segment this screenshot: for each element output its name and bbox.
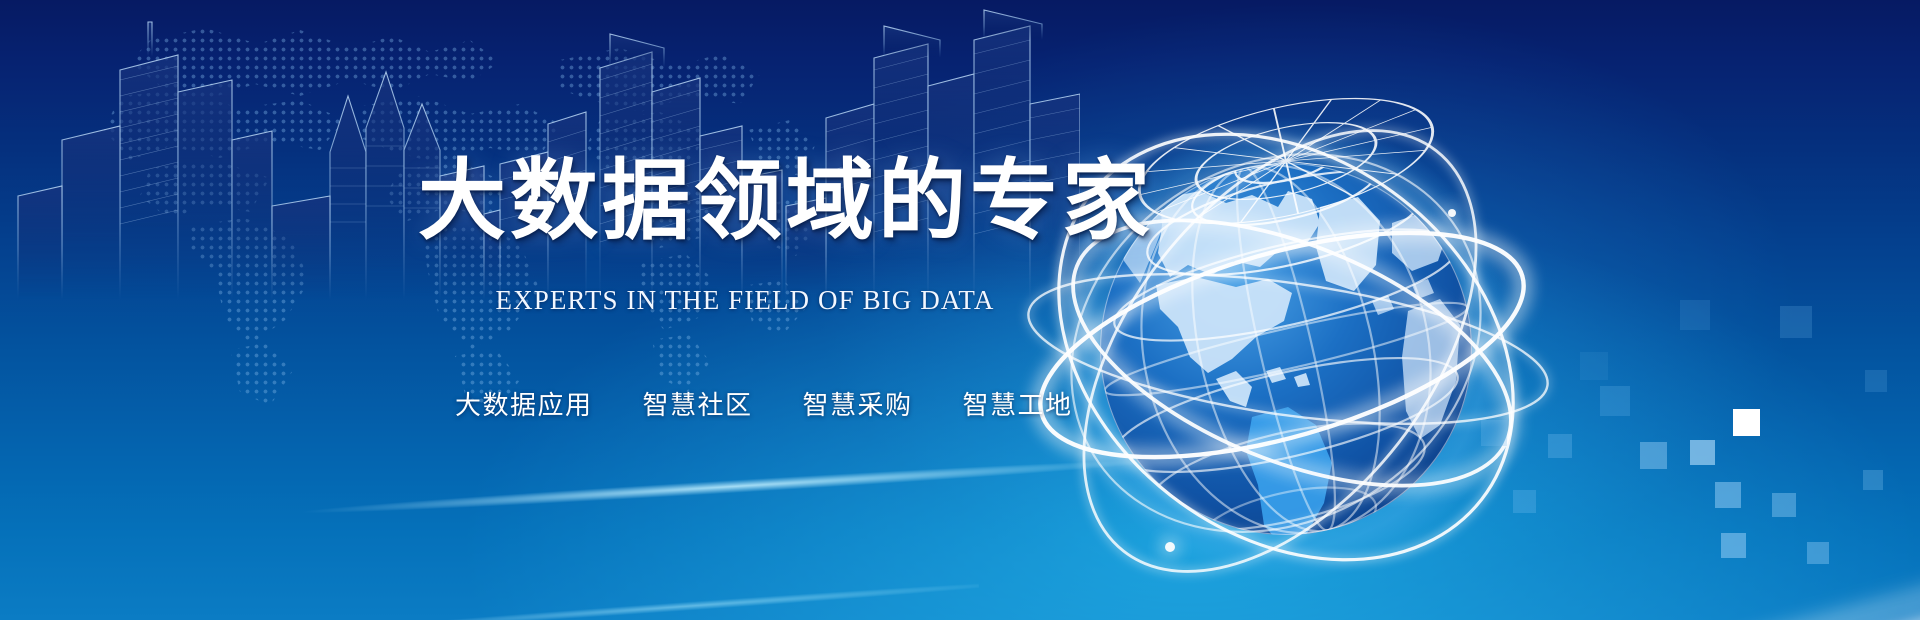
keyword-item-3[interactable]: 智慧工地: [963, 385, 1073, 422]
keyword-list: 大数据应用 智慧社区 智慧采购 智慧工地: [455, 385, 1073, 422]
keyword-item-2[interactable]: 智慧采购: [803, 385, 913, 422]
keyword-item-0[interactable]: 大数据应用: [455, 385, 593, 422]
keyword-item-1[interactable]: 智慧社区: [643, 385, 753, 422]
page-title: 大数据领域的专家: [418, 157, 1154, 245]
banner-root: 大数据领域的专家 EXPERTS IN THE FIELD OF BIG DAT…: [0, 0, 1920, 620]
subtitle: EXPERTS IN THE FIELD OF BIG DATA: [420, 285, 1070, 316]
banner-content: 大数据领域的专家 EXPERTS IN THE FIELD OF BIG DAT…: [0, 0, 1920, 620]
